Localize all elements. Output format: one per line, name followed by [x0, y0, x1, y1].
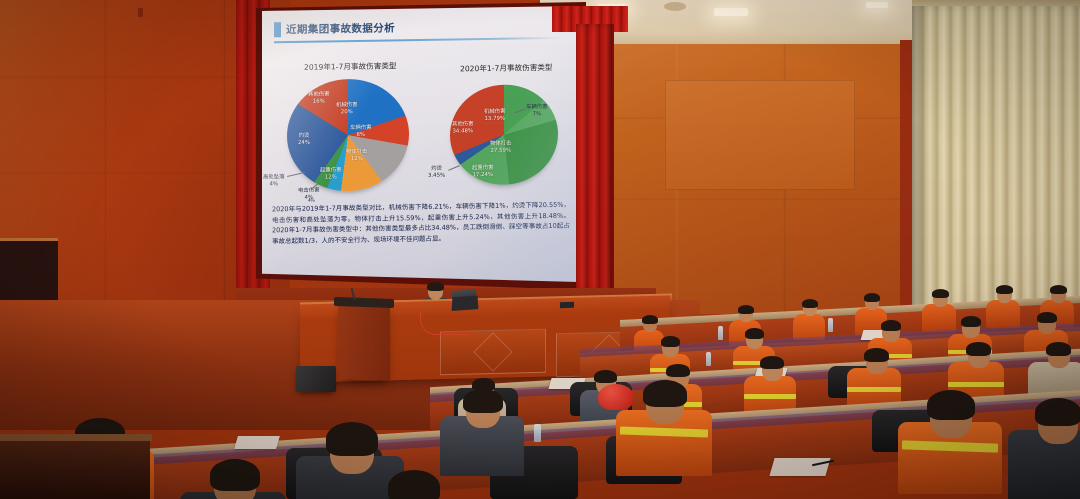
- hair: [1035, 398, 1080, 426]
- hair: [927, 390, 975, 420]
- back-wall-inset-panel: [665, 80, 855, 190]
- screen-right-drape: [576, 24, 614, 294]
- pie2-leader-zhuotang: [448, 165, 460, 171]
- hi-vis-jacket: [922, 304, 956, 332]
- hair: [326, 422, 378, 456]
- red-safety-helmet[interactable]: [598, 384, 634, 410]
- floor-speaker-left: [296, 366, 336, 392]
- pie1-label-qizhong: 起重伤害12%: [320, 167, 342, 181]
- ceiling-vent: [664, 2, 686, 11]
- hair: [661, 336, 680, 347]
- water-bottle-1[interactable]: [718, 326, 723, 340]
- foreground-rail-top: [0, 434, 152, 441]
- pie1-label-zhuotang: 灼烫24%: [298, 133, 310, 147]
- slide-body-text: 2020年与2019年1-7月事故类型对比，机械伤害下降6.21%，车辆伤害下降…: [272, 200, 570, 247]
- power-cable: [420, 312, 467, 335]
- projection-screen[interactable]: 近期集团事故数据分析 2019年1-7月事故伤害类型 机械伤害20% 车辆伤害8…: [262, 6, 580, 282]
- hair: [388, 470, 440, 499]
- hair: [666, 364, 690, 377]
- pie2-label-qizhong: 起重伤害17.24%: [472, 165, 494, 179]
- hair: [1046, 342, 1071, 356]
- chart-2-title: 2020年1-7月事故伤害类型: [460, 62, 552, 74]
- pie1-label-gaochu: 高处坠落4%: [263, 174, 285, 188]
- hair: [210, 459, 260, 491]
- water-bottle-2[interactable]: [828, 318, 833, 332]
- hair: [1050, 285, 1067, 294]
- wall-marker: [138, 8, 143, 17]
- hair: [738, 305, 754, 314]
- hair: [1037, 312, 1057, 323]
- slide-body-note: 4%: [308, 198, 315, 203]
- reflective-stripe: [847, 387, 901, 392]
- hair: [966, 342, 991, 356]
- presenter-hair: [427, 282, 444, 291]
- screenshot-root: 近期集团事故数据分析 2019年1-7月事故伤害类型 机械伤害20% 车辆伤害8…: [0, 0, 1080, 499]
- slide-content: 近期集团事故数据分析 2019年1-7月事故伤害类型 机械伤害20% 车辆伤害8…: [262, 6, 580, 282]
- lectern: [338, 301, 390, 381]
- pie2-label-zhuotang: 灼烫3.45%: [428, 166, 445, 180]
- notepad-5[interactable]: [769, 458, 830, 476]
- hair: [463, 389, 503, 413]
- reflective-stripe: [744, 394, 796, 399]
- pie1-label-jixie: 机械伤害20%: [336, 102, 358, 116]
- hair: [864, 348, 889, 362]
- ceiling-light-2: [714, 8, 748, 16]
- hair: [642, 315, 658, 324]
- hair: [961, 316, 981, 327]
- pie1-leader-gaochu: [287, 172, 305, 177]
- slide-title-block: 近期集团事故数据分析: [274, 20, 395, 37]
- pie2-label-jixie: 机械伤害13.79%: [484, 109, 506, 123]
- pie1-label-cheliang: 车辆伤害8%: [350, 125, 372, 139]
- hair: [996, 285, 1013, 294]
- hair: [932, 289, 949, 298]
- laptop[interactable]: [452, 296, 479, 312]
- hair: [864, 293, 880, 302]
- pie2-label-wuti: 物体打击27.59%: [490, 141, 512, 155]
- hair: [594, 370, 617, 383]
- water-bottle-3[interactable]: [706, 352, 711, 366]
- title-accent-tab: [274, 22, 281, 37]
- desk-monitor-unit: [560, 302, 574, 308]
- title-underline: [274, 37, 560, 43]
- water-bottle-4[interactable]: [534, 424, 541, 442]
- pie2-label-cheliang: 车辆伤害7%: [526, 104, 548, 118]
- notepad-4[interactable]: [234, 436, 280, 449]
- reflective-stripe: [948, 382, 1004, 387]
- slide-title: 近期集团事故数据分析: [286, 20, 395, 37]
- hi-vis-jacket: [986, 300, 1020, 328]
- hair: [643, 380, 687, 407]
- conference-room: 近期集团事故数据分析 2019年1-7月事故伤害类型 机械伤害20% 车辆伤害8…: [0, 0, 1080, 499]
- chart-1-title: 2019年1-7月事故伤害类型: [304, 60, 396, 72]
- pie1-label-wuti: 物体打击12%: [346, 149, 368, 163]
- pie1-label-qita: 其他伤害16%: [308, 91, 330, 105]
- hair: [802, 299, 818, 308]
- hair: [760, 356, 784, 369]
- hair: [881, 320, 901, 331]
- pie2-label-qita: 其他伤害34.48%: [452, 121, 474, 135]
- hair: [745, 328, 764, 339]
- ceiling-light-3: [866, 2, 888, 8]
- foreground-rail: [0, 438, 150, 499]
